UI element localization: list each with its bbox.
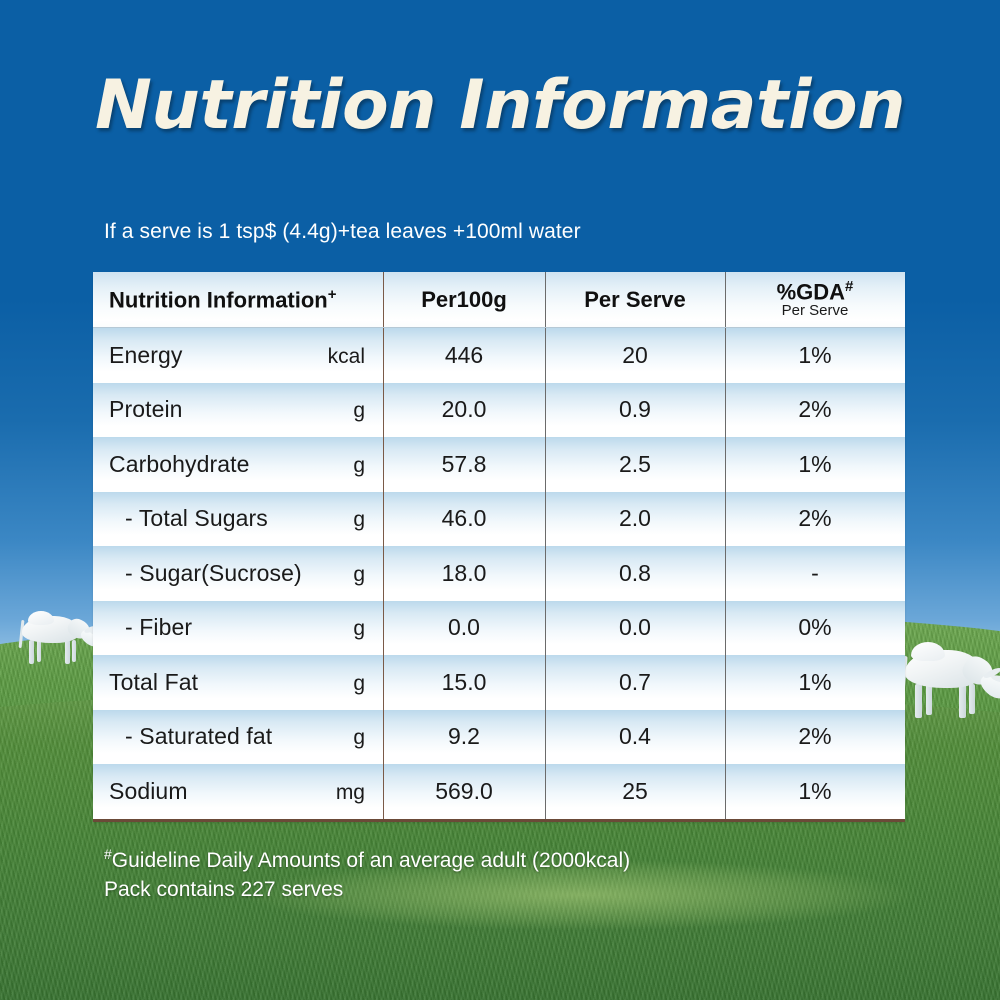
header-label-gda: %GDA# [725,279,905,303]
table-row: Carbohydrateg57.82.51% [93,437,905,492]
header-cell-per-serve: Per Serve [545,287,725,313]
cell-per-serve: 25 [545,778,725,805]
cell-nutrient-name: Carbohydrateg [93,451,383,478]
nutrient-label: Total Fat [109,669,198,696]
footer-gda-note: #Guideline Daily Amounts of an average a… [104,845,884,876]
cell-nutrient-name: - Sugar(Sucrose)g [93,560,383,587]
nutrient-label: Energy [109,342,182,369]
serve-definition-note: If a serve is 1 tsp$ (4.4g)+tea leaves +… [104,220,581,244]
nutrient-unit: g [353,563,365,587]
nutrition-facts-table: Nutrition Information+ Per100g Per Serve… [93,272,905,822]
column-divider [725,764,726,819]
table-row: - Saturated fatg9.20.42% [93,710,905,765]
column-divider [725,328,726,383]
footer-notes: #Guideline Daily Amounts of an average a… [104,845,884,905]
column-divider [725,546,726,601]
cell-nutrient-name: Total Fatg [93,669,383,696]
column-divider [725,492,726,547]
cell-per-serve: 0.0 [545,614,725,641]
header-sup-plus: + [328,286,337,303]
table-body: Energykcal446201%Proteing20.00.92%Carboh… [93,328,905,819]
table-row: - Fiberg0.00.00% [93,601,905,656]
cell-gda: 1% [725,342,905,369]
table-row: Total Fatg15.00.71% [93,655,905,710]
column-divider [725,655,726,710]
cell-per100g: 446 [383,342,545,369]
page-title: Nutrition Information [0,66,1000,145]
nutrient-unit: kcal [328,345,365,369]
cell-per-serve: 0.4 [545,723,725,750]
nutrient-unit: g [353,672,365,696]
footer-sup-hash: # [104,846,112,862]
column-divider [725,437,726,492]
table-header-row: Nutrition Information+ Per100g Per Serve… [93,272,905,328]
header-sublabel-per-serve: Per Serve [725,303,905,320]
nutrient-unit: mg [336,781,365,805]
cow-hump [911,642,945,661]
header-cell-gda: %GDA# Per Serve [725,279,905,320]
header-sup-hash: # [845,278,853,295]
cell-gda: 1% [725,451,905,478]
header-cell-per100g: Per100g [383,287,545,313]
cow-leg [915,684,922,718]
header-cell-name: Nutrition Information+ [93,286,383,313]
cell-per-serve: 0.7 [545,669,725,696]
cell-per100g: 18.0 [383,560,545,587]
column-divider [725,710,726,765]
cell-nutrient-name: - Saturated fatg [93,723,383,750]
cell-per100g: 15.0 [383,669,545,696]
cell-gda: 0% [725,614,905,641]
nutrient-label: Sodium [109,778,188,805]
cell-per100g: 57.8 [383,451,545,478]
nutrient-label: - Total Sugars [109,505,268,532]
nutrient-unit: g [353,399,365,423]
cell-nutrient-name: Proteing [93,396,383,423]
cell-nutrient-name: - Total Sugarsg [93,505,383,532]
cell-per-serve: 2.5 [545,451,725,478]
table-row: Energykcal446201% [93,328,905,383]
nutrient-label: - Sugar(Sucrose) [109,560,302,587]
cow-hump [28,611,54,625]
cell-nutrient-name: - Fiberg [93,614,383,641]
column-divider [725,601,726,656]
cell-gda: 2% [725,505,905,532]
nutrient-unit: g [353,726,365,750]
table-row: - Sugar(Sucrose)g18.00.8- [93,546,905,601]
cell-nutrient-name: Sodiummg [93,778,383,805]
nutrient-label: - Fiber [109,614,192,641]
cow-leg [29,640,34,664]
cow-leg [959,684,966,718]
nutrient-label: Carbohydrate [109,451,250,478]
table-row: - Total Sugarsg46.02.02% [93,492,905,547]
cell-per-serve: 20 [545,342,725,369]
cell-per100g: 569.0 [383,778,545,805]
cell-per100g: 20.0 [383,396,545,423]
cell-per-serve: 0.8 [545,560,725,587]
header-label-nutrition-information: Nutrition Information+ [109,286,337,313]
cow-leg [37,640,41,662]
cow-leg [926,684,932,715]
cow-leg [72,640,76,662]
cell-per100g: 0.0 [383,614,545,641]
column-divider [725,383,726,438]
cow-leg [65,640,70,664]
nutrient-unit: g [353,454,365,478]
nutrient-label: - Saturated fat [109,723,272,750]
cell-gda: 1% [725,778,905,805]
nutrient-unit: g [353,508,365,532]
nutrient-unit: g [353,617,365,641]
table-row: Proteing20.00.92% [93,383,905,438]
cow-right-icon [905,640,1000,736]
cell-gda: 2% [725,723,905,750]
cell-gda: - [725,560,905,587]
cell-gda: 2% [725,396,905,423]
column-divider [725,272,726,327]
table-row: Sodiummg569.0251% [93,764,905,819]
cell-per100g: 46.0 [383,505,545,532]
cell-per-serve: 2.0 [545,505,725,532]
footer-pack-serves: Pack contains 227 serves [104,876,884,905]
cow-leg [969,684,975,714]
cell-gda: 1% [725,669,905,696]
cell-per-serve: 0.9 [545,396,725,423]
cell-nutrient-name: Energykcal [93,342,383,369]
nutrition-panel: Nutrition Information If a serve is 1 ts… [0,0,1000,1000]
cell-per100g: 9.2 [383,723,545,750]
nutrient-label: Protein [109,396,183,423]
